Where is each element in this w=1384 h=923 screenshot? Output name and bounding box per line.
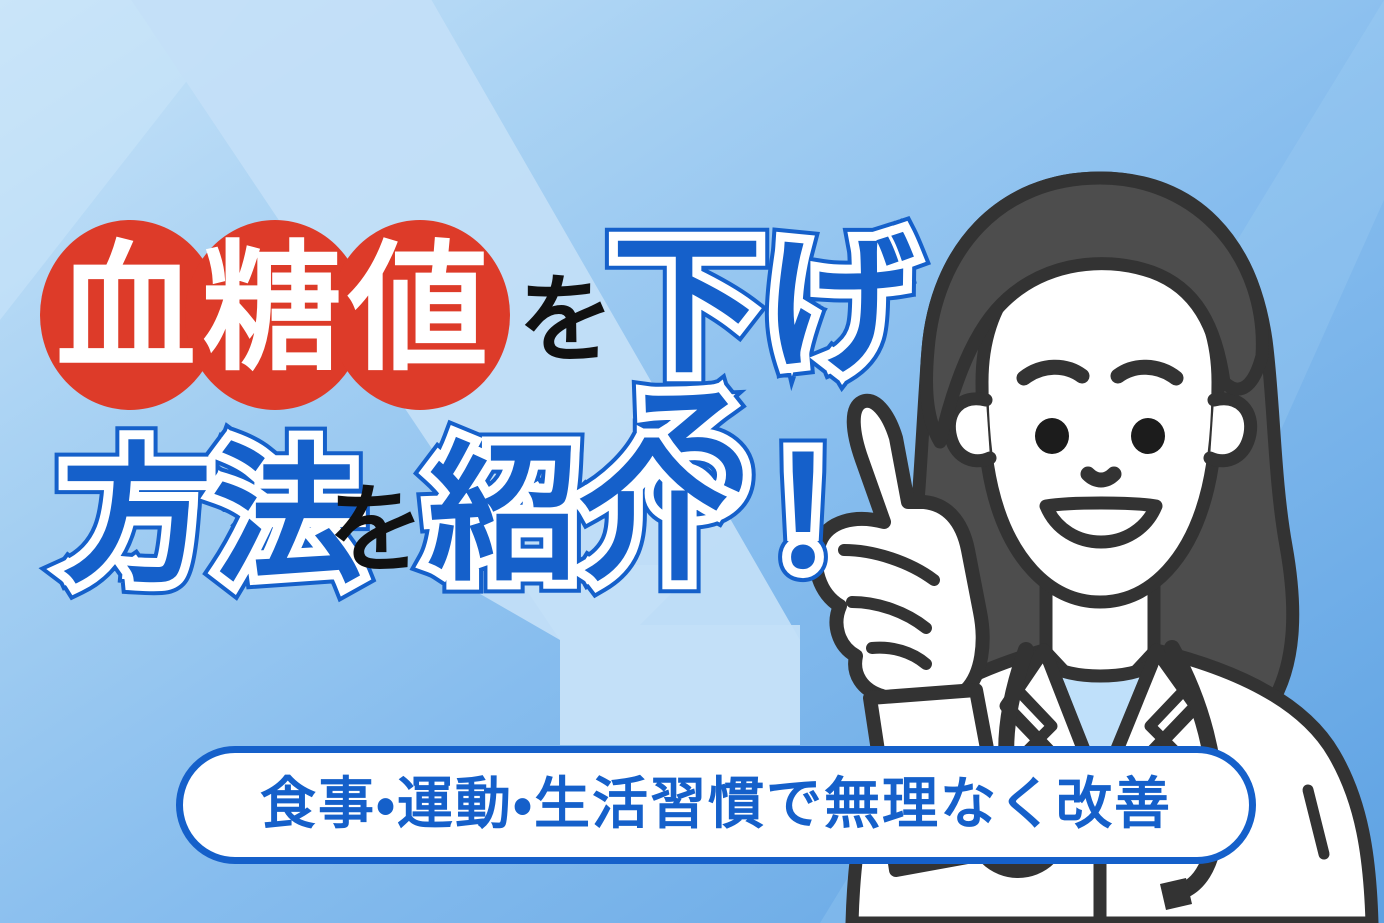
eye-left — [1035, 418, 1069, 454]
face — [982, 246, 1218, 602]
subtitle-banner: 食事・運動・生活習慣で無理なく改善 — [176, 746, 1256, 864]
subtitle-banner-text: 食事・運動・生活習慣で無理なく改善 — [260, 777, 1172, 833]
ear-right — [1210, 399, 1251, 461]
headline-particle-2: を — [328, 482, 424, 578]
headline-particle-1: を — [518, 272, 614, 368]
nose — [1088, 474, 1114, 480]
eye-right — [1131, 418, 1165, 454]
headline-emphasis-2b: 紹介！ — [428, 440, 878, 590]
headline-highlight-word: 血糖値 — [56, 240, 494, 380]
poster-canvas: 血糖値 を 下げる 下げる 方法 方法 を 紹介！ 紹介！ — [0, 0, 1384, 923]
headline-block: 血糖値 を 下げる 下げる 方法 方法 を 紹介！ 紹介！ — [0, 196, 1010, 616]
headline-emphasis-2a: 方法 — [62, 442, 362, 592]
smiling-mouth — [1046, 503, 1156, 542]
